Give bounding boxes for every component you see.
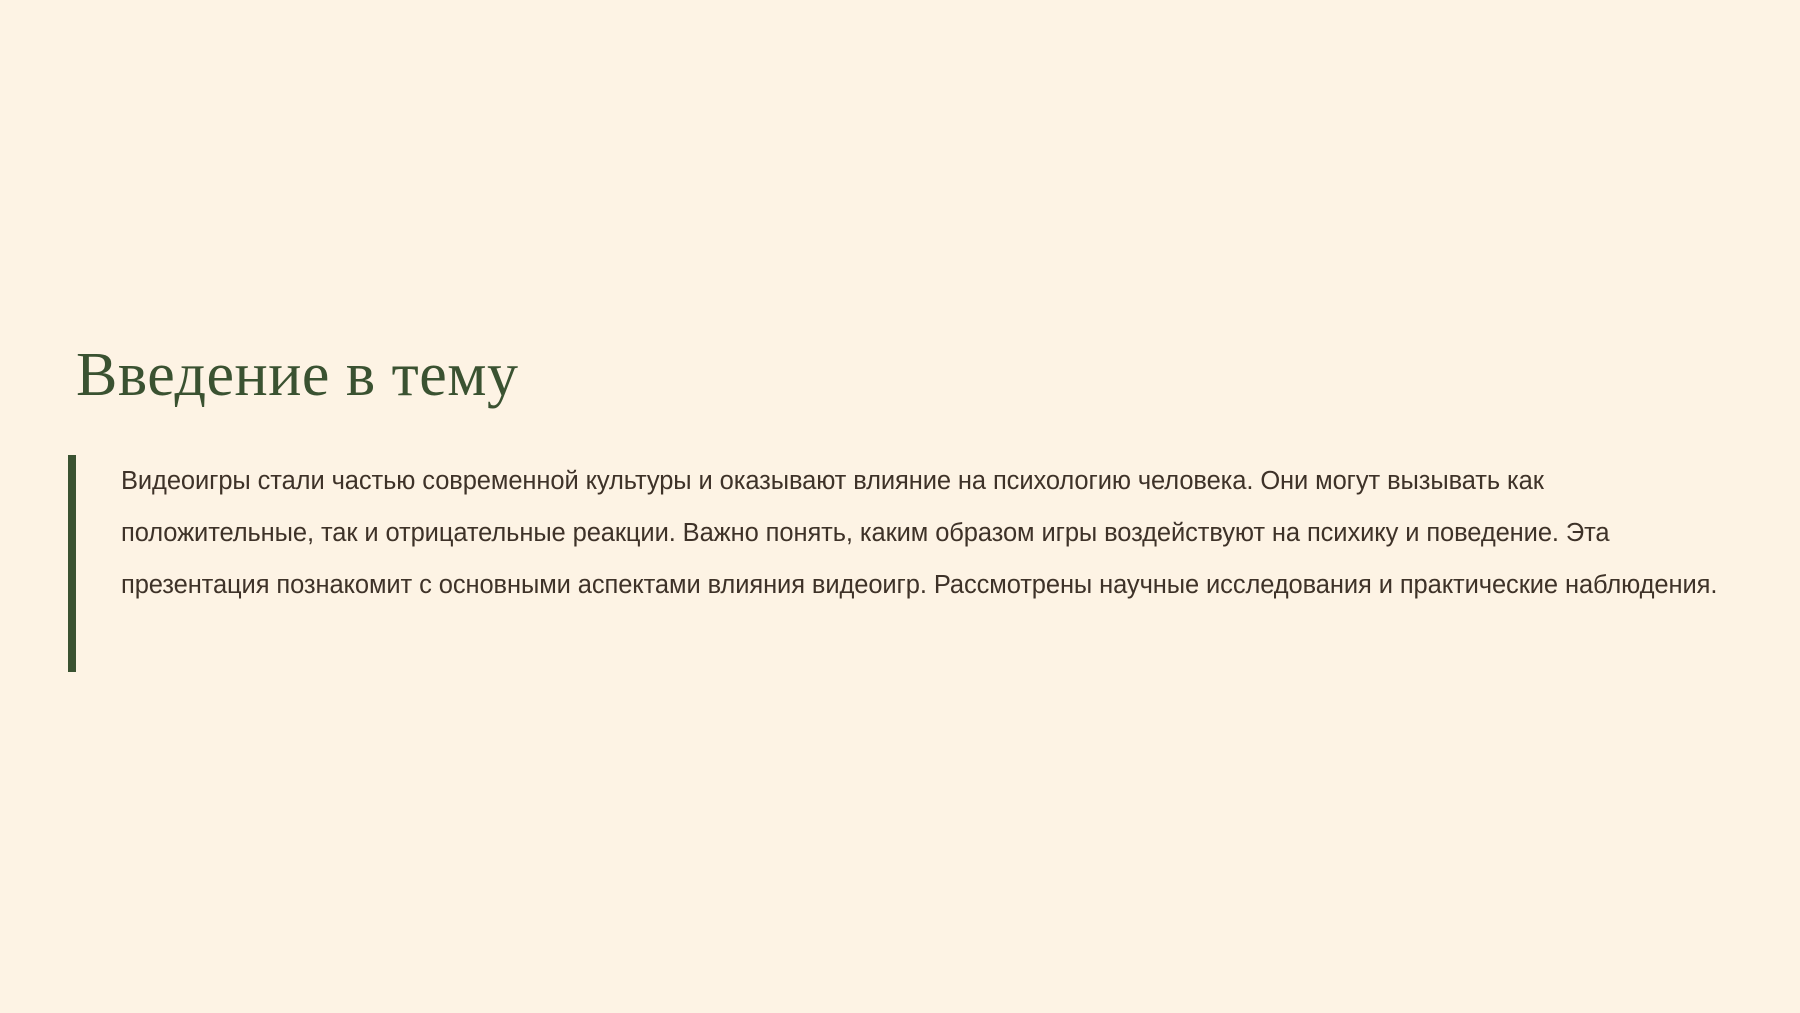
slide-body-text: Видеоигры стали частью современной культ…: [76, 455, 1728, 672]
slide-title: Введение в тему: [76, 341, 519, 409]
accent-bar: [68, 455, 76, 672]
presentation-slide: Введение в тему Видеоигры стали частью с…: [0, 0, 1800, 1013]
body-quote-block: Видеоигры стали частью современной культ…: [68, 455, 1728, 672]
